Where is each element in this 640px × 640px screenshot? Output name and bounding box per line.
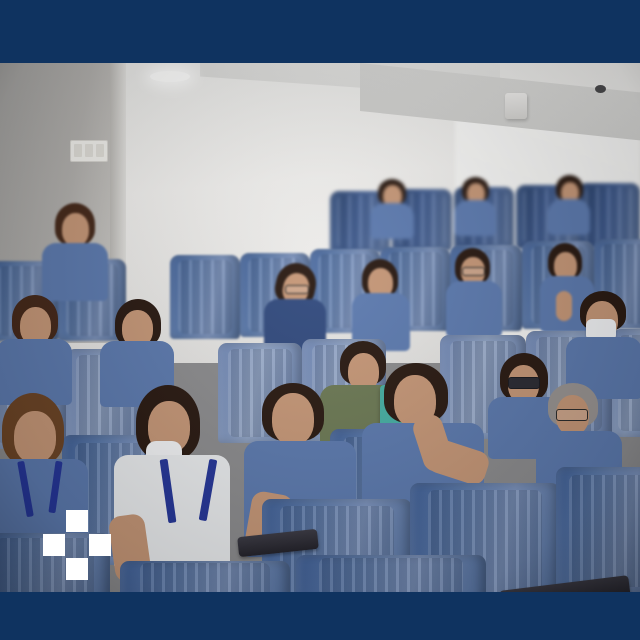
logo-square-bottom xyxy=(66,558,88,580)
frame-band-bottom xyxy=(0,592,640,640)
photo-card xyxy=(0,0,640,640)
frame-band-top xyxy=(0,0,640,63)
recessed-ceiling-light-icon xyxy=(150,71,190,82)
logo-square-right xyxy=(89,534,111,556)
logo-square-left xyxy=(43,534,65,556)
wall-light-switch-icon xyxy=(70,140,108,162)
ceiling-speaker-icon xyxy=(505,93,527,119)
logo-square-top xyxy=(66,510,88,532)
medical-cross-logo xyxy=(43,510,111,580)
ceiling-sensor-icon xyxy=(595,85,606,93)
